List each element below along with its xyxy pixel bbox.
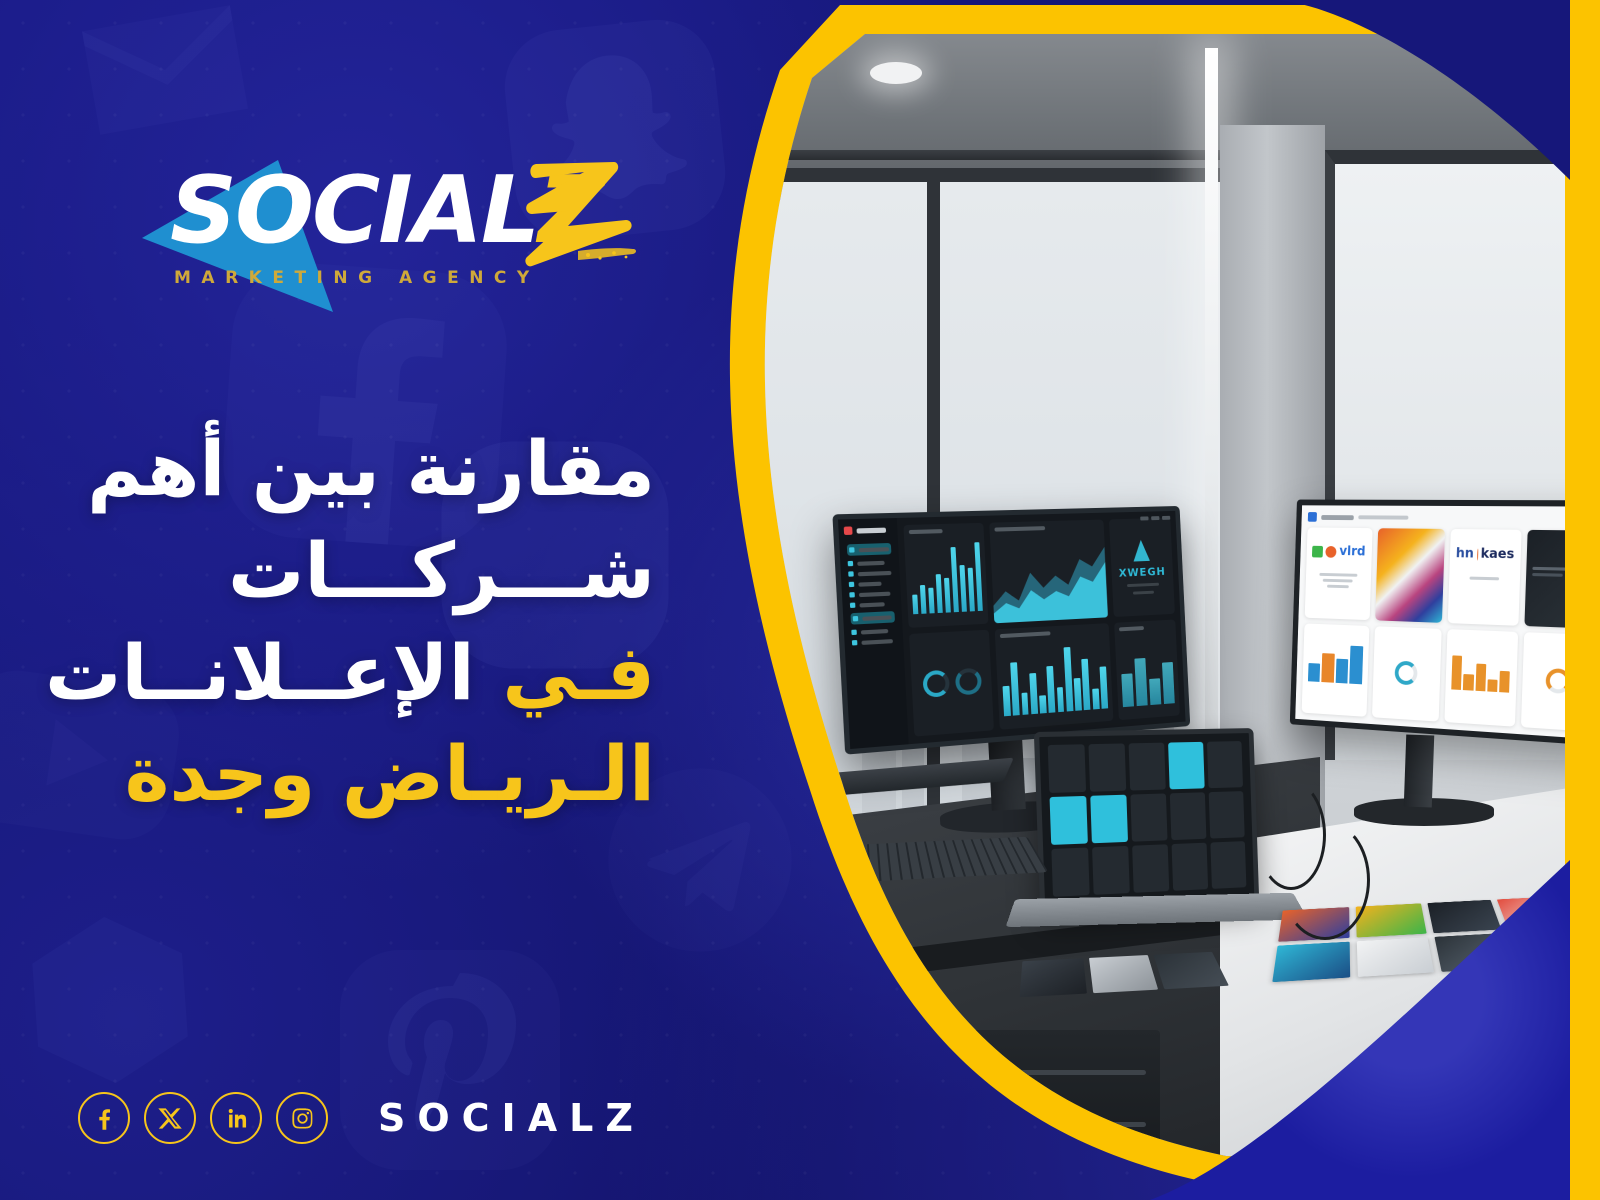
ceiling-downlight	[870, 62, 922, 84]
social-link-x[interactable]	[144, 1092, 196, 1144]
pinterest-watermark-icon	[330, 935, 570, 1185]
brand-tile-logo-2: hnkaes	[1448, 529, 1521, 625]
chart-card-misc	[1114, 620, 1180, 721]
floor	[660, 1060, 920, 1200]
linkedin-icon	[223, 1105, 250, 1132]
brand-tile-gradient	[1375, 528, 1445, 622]
cube-watermark-icon	[3, 893, 216, 1106]
chart-card-bars-2	[995, 623, 1113, 730]
headline-line-2: شـــركـــات	[45, 520, 655, 622]
headline-line-1: مقارنة بين أهم	[45, 418, 655, 520]
cable-2	[1280, 820, 1370, 940]
brand-board: vlrd hnkaes	[1295, 505, 1600, 739]
page-title: مقارنة بين أهم شـــركـــات فـي الإعــلان…	[45, 418, 655, 825]
kpi-card: XWEGH	[1109, 518, 1175, 617]
app-tile-grid	[1048, 741, 1247, 897]
footer-social-bar: SOCIALZ	[78, 1092, 645, 1144]
chart-card-area	[989, 520, 1108, 624]
poster-canvas: SOCIALZ MARKETING AGENCY مقارنة بين أهم …	[0, 0, 1600, 1200]
headline-line-3-accent: فـي	[502, 622, 655, 724]
headline-line-3-main: الإعــلانــات	[45, 622, 475, 724]
monitor-1-analytics-dashboard: XWEGH	[832, 506, 1190, 755]
brand-tile-chart-2	[1444, 629, 1517, 727]
logo[interactable]: SOCIALZ MARKETING AGENCY	[128, 140, 638, 320]
chart-card-donuts	[909, 630, 994, 737]
facebook-icon	[91, 1105, 118, 1132]
social-link-facebook[interactable]	[78, 1092, 130, 1144]
logo-brush-stroke	[428, 154, 643, 279]
footer-brand-name: SOCIALZ	[378, 1096, 645, 1140]
social-link-linkedin[interactable]	[210, 1092, 262, 1144]
monitor-2-brand-board: vlrd hnkaes	[1290, 500, 1600, 747]
hero-photo-frame: XWEGH	[660, 0, 1600, 1200]
chart-card-bars-1	[903, 523, 988, 628]
headline-line-3: فـي الإعــلانــات	[45, 622, 655, 724]
x-icon	[157, 1105, 184, 1132]
brand-tile-logo: vlrd	[1305, 527, 1372, 619]
social-link-instagram[interactable]	[276, 1092, 328, 1144]
laptop-screen-app-tiles	[1034, 728, 1259, 911]
logo-tagline: MARKETING AGENCY	[174, 268, 540, 288]
instagram-icon	[289, 1105, 316, 1132]
right-edge-yellow-bar	[1570, 0, 1600, 1200]
vertical-light-strip	[1205, 48, 1218, 808]
brand-tile-chart-1	[1302, 623, 1369, 717]
dashboard-dark: XWEGH	[838, 511, 1186, 749]
monitor-2-stand	[1404, 735, 1434, 808]
headline-line-4: الـريـاض وجدة	[45, 723, 655, 825]
brand-tile-donut-1	[1372, 626, 1442, 722]
